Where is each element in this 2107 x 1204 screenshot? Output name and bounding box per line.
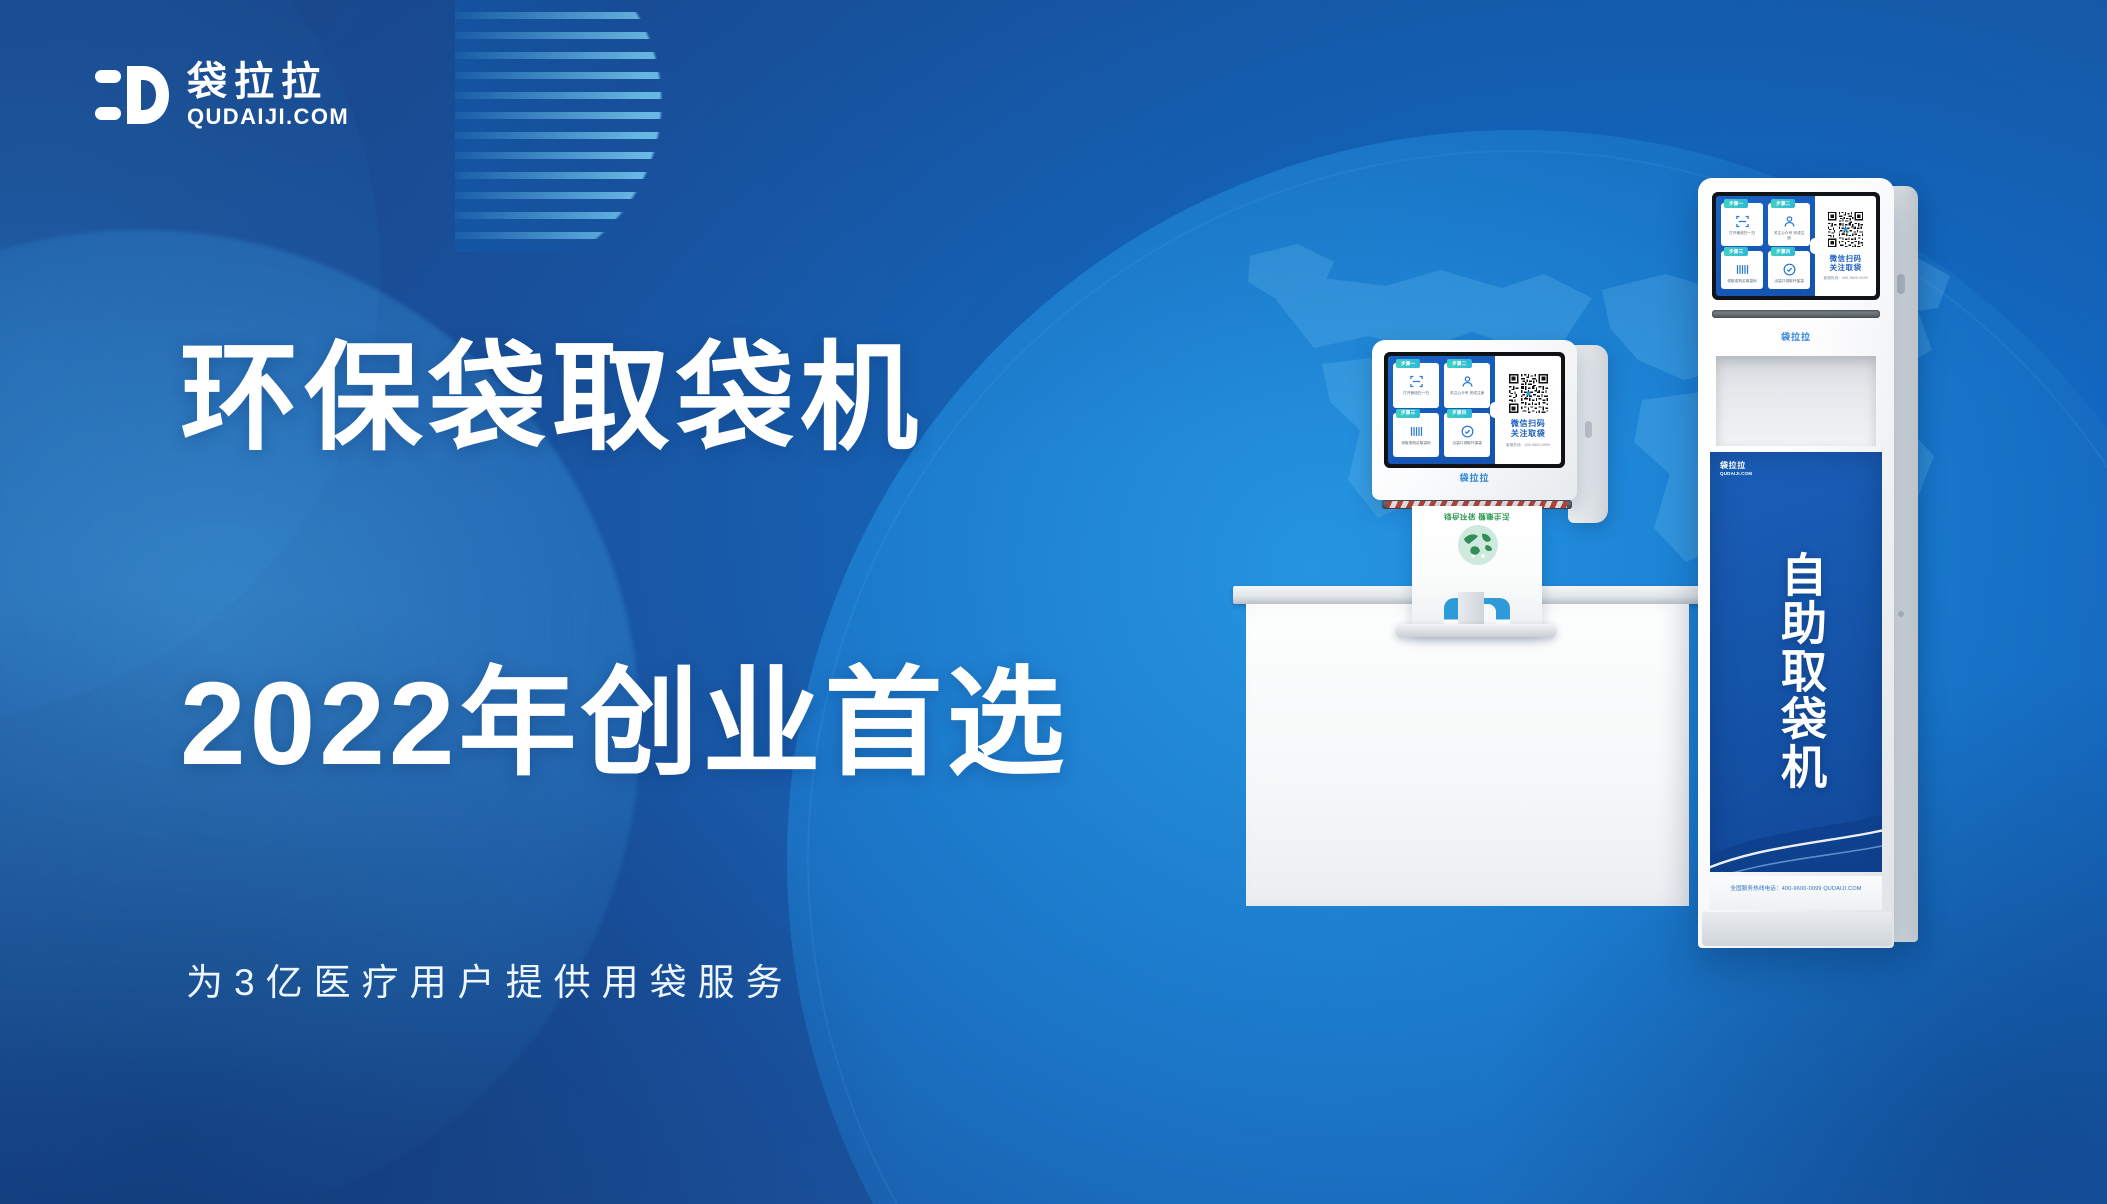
step-card[interactable]: 步骤三 领取或购买取袋码	[1721, 251, 1763, 289]
floor-kiosk-pickup-recess	[1716, 356, 1876, 446]
brand-logo-text: 袋拉拉 QUDAIJI.COM	[187, 62, 349, 128]
step-card[interactable]: 步骤三 领取或购买取袋码	[1393, 413, 1439, 458]
desktop-kiosk-screen[interactable]: 步骤一 打开微信扫一扫 步骤二	[1384, 352, 1565, 468]
kiosk-steps-panel: 步骤一 打开微信扫一扫 步骤二	[1388, 356, 1495, 464]
brand-name-en: QUDAIJI.COM	[187, 106, 349, 128]
scan-qr-icon	[1409, 374, 1424, 389]
counter-front-panel	[1246, 604, 1689, 906]
headline-line-2: 2022年创业首选	[180, 655, 1069, 794]
floor-kiosk-screen[interactable]: 步骤一 打开微信扫一扫 步骤二	[1712, 192, 1880, 300]
desktop-bag-dispenser: 步骤一 打开微信扫一扫 步骤二	[1372, 340, 1622, 610]
step-card[interactable]: 步骤一 打开微信扫一扫	[1721, 203, 1763, 246]
step-tab-label: 步骤四	[1447, 409, 1471, 418]
striped-disc-fade	[455, 0, 785, 252]
follow-icon	[1460, 374, 1475, 389]
qr-title-line-1: 微信扫码	[1511, 419, 1545, 429]
step-tab-label: 步骤三	[1396, 409, 1420, 418]
floor-kiosk-footer-text: 全国服务热线电话：400-9600-0099 QUDAIJI.COM	[1710, 884, 1882, 892]
headline-block: 环保袋取袋机 2022年创业首选 为3亿医疗用户提供用袋服务	[180, 330, 1069, 1001]
headline-subtitle: 为3亿医疗用户提供用袋服务	[186, 964, 1069, 1001]
step-tab-label: 步骤三	[1724, 247, 1748, 256]
floor-kiosk-plinth	[1702, 912, 1892, 946]
kiosk-screen-ui: 步骤一 打开微信扫一扫 步骤二	[1388, 356, 1561, 464]
step-caption: 关注公众号 完成注册	[1448, 391, 1486, 396]
floor-kiosk-body-logo: 袋拉拉	[1698, 330, 1894, 343]
step-caption: 打开微信扫一扫	[1401, 391, 1431, 396]
step-card[interactable]: 步骤四 出袋口领取环保袋	[1444, 413, 1490, 458]
floor-kiosk-blue-panel: 袋拉拉 QUDAIJI.COM 自助取袋机	[1710, 452, 1882, 872]
panel-logo-en: QUDAIJI.COM	[1720, 471, 1752, 477]
qr-service-note: 客服热线：400-9600-0099	[1824, 276, 1868, 281]
step-tab-label: 步骤一	[1396, 359, 1420, 368]
eco-bag-text: 绿色环保 健康生活	[1412, 511, 1542, 522]
floor-standing-bag-dispenser: 步骤一 打开微信扫一扫 步骤二	[1698, 178, 1928, 948]
scan-qr-icon	[1735, 214, 1750, 229]
banner-stage: 袋拉拉 QUDAIJI.COM 环保袋取袋机 2022年创业首选 为3亿医疗用户…	[0, 0, 2107, 1204]
barcode-icon	[1735, 262, 1750, 277]
qr-title-line-2: 关注取袋	[1511, 429, 1545, 439]
desktop-kiosk-body-logo: 袋拉拉	[1372, 471, 1577, 484]
step-card[interactable]: 步骤一 打开微信扫一扫	[1393, 363, 1439, 408]
desktop-kiosk-base	[1396, 624, 1556, 637]
step-tab-label: 步骤一	[1724, 199, 1748, 208]
step-card[interactable]: 步骤二 关注公众号 完成注册	[1768, 203, 1810, 246]
step-card[interactable]: 步骤二 关注公众号 完成注册	[1444, 363, 1490, 408]
striped-disc-wrapper	[0, 0, 800, 270]
kiosk-steps-panel: 步骤一 打开微信扫一扫 步骤二	[1716, 196, 1815, 296]
kiosk-qr-panel: 微信扫码 关注取袋 客服热线：400-9600-0099	[1495, 356, 1561, 464]
check-bag-icon	[1782, 262, 1797, 277]
kiosk-screen-ui: 步骤一 打开微信扫一扫 步骤二	[1716, 196, 1876, 296]
step-caption: 打开微信扫一扫	[1727, 231, 1757, 236]
earth-globe-icon	[1458, 525, 1498, 565]
brand-name-cn: 袋拉拉	[187, 62, 349, 102]
brand-logo[interactable]: 袋拉拉 QUDAIJI.COM	[95, 62, 349, 128]
step-caption: 领取或购买取袋码	[1725, 279, 1759, 284]
kiosk-qr-panel: 微信扫码 关注取袋 客服热线：400-9600-0099	[1815, 196, 1876, 296]
floor-kiosk-bag-slot	[1712, 310, 1880, 318]
step-tab-label: 步骤二	[1771, 199, 1795, 208]
step-card[interactable]: 步骤四 出袋口领取环保袋	[1768, 251, 1810, 289]
step-tab-label: 步骤二	[1447, 359, 1471, 368]
wechat-qr-code[interactable]	[1827, 211, 1865, 249]
barcode-icon	[1409, 424, 1424, 439]
desktop-kiosk-head: 步骤一 打开微信扫一扫 步骤二	[1372, 340, 1577, 500]
colon-d-logo-icon	[95, 62, 169, 128]
qr-title-line-2: 关注取袋	[1830, 263, 1862, 272]
step-caption: 出袋口领取环保袋	[1772, 279, 1806, 284]
step-tab-label: 步骤四	[1771, 247, 1795, 256]
step-caption: 关注公众号 完成注册	[1771, 231, 1807, 241]
striped-half-disc-icon	[455, 0, 785, 252]
panel-swoosh-decoration	[1710, 778, 1882, 872]
check-bag-icon	[1460, 424, 1475, 439]
panel-logo-cn: 袋拉拉	[1720, 461, 1752, 471]
follow-icon	[1782, 214, 1797, 229]
qr-service-note: 客服热线：400-9600-0099	[1506, 443, 1550, 448]
qr-title-line-1: 微信扫码	[1830, 254, 1862, 263]
step-caption: 出袋口领取环保袋	[1450, 441, 1484, 446]
desktop-kiosk-stand-neck	[1458, 592, 1484, 628]
floor-kiosk-footer: 全国服务热线电话：400-9600-0099 QUDAIJI.COM	[1710, 876, 1882, 910]
wechat-qr-code[interactable]	[1507, 372, 1549, 414]
headline-line-1: 环保袋取袋机	[180, 330, 1069, 469]
step-caption: 领取或购买取袋码	[1399, 441, 1433, 446]
floor-kiosk-body: 步骤一 打开微信扫一扫 步骤二	[1698, 178, 1894, 948]
floor-kiosk-panel-logo: 袋拉拉 QUDAIJI.COM	[1720, 461, 1752, 477]
